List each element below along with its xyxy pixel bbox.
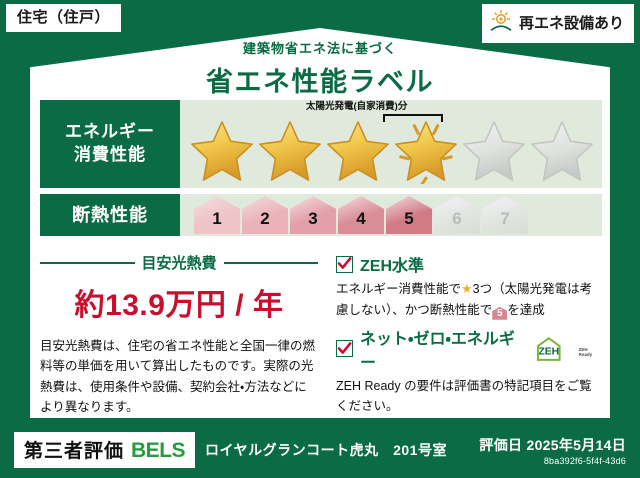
insulation-level-number: 5 [404, 209, 413, 234]
zeh-standard-title: ZEH水準 [360, 252, 424, 276]
heading-rule-right [224, 262, 319, 264]
insulation-level-number: 3 [308, 209, 317, 234]
insulation-level-2: 2 [242, 196, 288, 234]
badge-house-type: 住宅（住戸） [6, 4, 121, 32]
insulation-level-7: 7 [482, 196, 528, 234]
star-icon-filled [324, 118, 392, 184]
lower-panels: 目安光熱費 約13.9万円 / 年 目安光熱費は、住宅の省エネ性能と全国一律の燃… [40, 252, 602, 421]
insulation-level-5: 5 [386, 196, 432, 234]
star-icon-empty [460, 118, 528, 184]
svg-text:ZEH: ZEH [539, 346, 560, 357]
solar-note-label: 太陽光発電(自家消費)分 [306, 98, 407, 112]
star-icon-filled [188, 118, 256, 184]
evaluation-date: 評価日 2025年5月14日 [479, 435, 626, 455]
energy-cost-heading: 目安光熱費 [40, 252, 318, 273]
badge-house-type-label: 住宅（住戸） [17, 9, 110, 26]
insulation-level-1: 1 [194, 196, 240, 234]
net-zero-title: ネット・ゼロ・エネルギー [360, 325, 528, 373]
insulation-level-4: 4 [338, 196, 384, 234]
insulation-levels-area: 1234567 [180, 194, 602, 236]
energy-cost-note: 目安光熱費は、住宅の省エネ性能と全国一律の燃料等の単価を用いて算出したものです。… [40, 336, 318, 417]
insulation-label: 断熱性能 [72, 203, 148, 227]
star-icon-empty [528, 118, 596, 184]
energy-performance-label-box: エネルギー 消費性能 [40, 100, 180, 188]
insulation-level-number: 6 [452, 209, 461, 234]
zeh-standard-title-row: ZEH水準 [336, 252, 602, 276]
zeh-desc-part-c: を達成 [507, 303, 545, 317]
check-icon [336, 256, 353, 273]
sun-solar-icon [488, 8, 514, 38]
energy-label-line2: 消費性能 [74, 144, 146, 167]
insulation-level-houses: 1234567 [180, 196, 528, 234]
zeh-house-icon: ZEH [535, 336, 576, 362]
energy-cost-heading-label: 目安光熱費 [142, 252, 217, 273]
zeh-standard-desc: エネルギー消費性能で★3つ（太陽光発電は考慮しない）、かつ断熱性能で5を達成 [336, 279, 602, 320]
star-icon-filled [392, 118, 460, 184]
zeh-standard-item: ZEH水準 エネルギー消費性能で★3つ（太陽光発電は考慮しない）、かつ断熱性能で… [336, 252, 602, 320]
evaluation-id: 8ba392f6-5f4f-43d6 [479, 456, 626, 466]
zeh-panel: ZEH水準 エネルギー消費性能で★3つ（太陽光発電は考慮しない）、かつ断熱性能で… [330, 252, 602, 421]
rating-rows: エネルギー 消費性能 太陽光発電(自家消費)分 断熱性能 1234567 [40, 100, 602, 242]
badge-solar-equipment: 再エネ設備あり [482, 4, 634, 43]
star-icon: ★ [461, 281, 473, 296]
energy-label-line1: エネルギー [65, 121, 155, 144]
third-party-label: 第三者評価 [24, 436, 124, 463]
heading-rule-left [40, 262, 135, 264]
net-zero-title-row: ネット・ゼロ・エネルギー ZEH ZEH Ready [336, 325, 602, 373]
badge-solar-label: 再エネ設備あり [519, 16, 624, 31]
energy-cost-value: 約13.9万円 / 年 [40, 280, 318, 324]
zeh-desc-part-a: エネルギー消費性能で [336, 282, 461, 296]
net-zero-energy-item: ネット・ゼロ・エネルギー ZEH ZEH Ready ZEH Ready の要件… [336, 325, 602, 416]
energy-performance-row: エネルギー 消費性能 太陽光発電(自家消費)分 [40, 100, 602, 188]
insulation-level-number: 4 [356, 209, 365, 234]
check-icon [336, 340, 353, 357]
insulation-level-number: 1 [212, 209, 221, 234]
energy-performance-stars-area: 太陽光発電(自家消費)分 [180, 100, 602, 188]
zeh-ready-logo: ZEH ZEH Ready [535, 336, 602, 362]
star-icon-filled [256, 118, 324, 184]
insulation-level-6: 6 [434, 196, 480, 234]
insulation-level-3: 3 [290, 196, 336, 234]
star-rating [180, 118, 596, 184]
insulation-level-number: 7 [500, 209, 509, 234]
bels-logo-text: BELS [131, 439, 185, 463]
zeh-ready-sublabel: ZEH Ready [579, 347, 602, 362]
energy-cost-panel: 目安光熱費 約13.9万円 / 年 目安光熱費は、住宅の省エネ性能と全国一律の燃… [40, 252, 330, 421]
net-zero-desc: ZEH Ready の要件は評価書の特記項目をご覧ください。 [336, 376, 602, 416]
footer: 第三者評価 BELS ロイヤルグランコート虎丸 201号室 評価日 2025年5… [0, 422, 640, 478]
bels-badge: 第三者評価 BELS [14, 432, 195, 468]
evaluation-info: 評価日 2025年5月14日 8ba392f6-5f4f-43d6 [479, 435, 626, 466]
insulation-level-badge: 5 [492, 307, 507, 320]
insulation-performance-row: 断熱性能 1234567 [40, 194, 602, 236]
building-name: ロイヤルグランコート虎丸 201号室 [205, 440, 447, 460]
insulation-performance-label-box: 断熱性能 [40, 194, 180, 236]
energy-performance-label: 住宅（住戸） 再エネ設備あり 建築物省エネ法に基づく 省エネ性能ラベル [0, 0, 640, 478]
insulation-level-number: 2 [260, 209, 269, 234]
